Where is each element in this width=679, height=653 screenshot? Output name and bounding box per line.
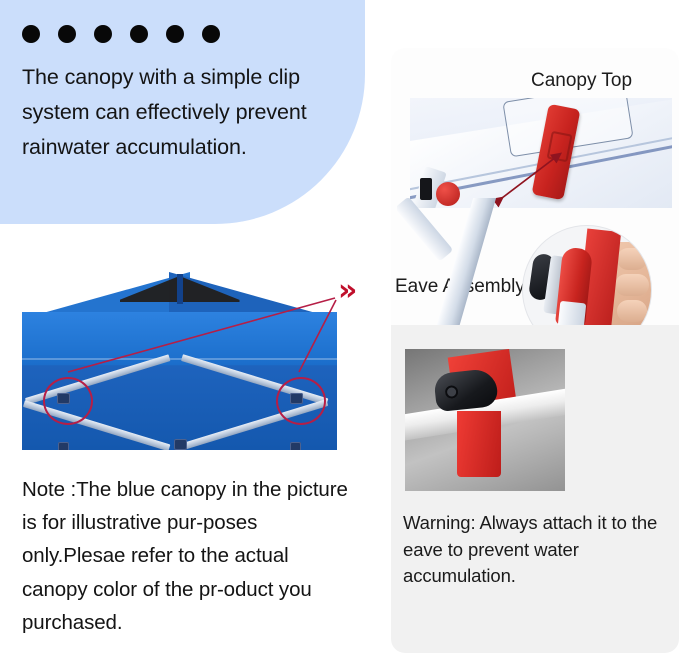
- right-column: Canopy Top: [391, 48, 679, 653]
- warning-text: Warning: Always attach it to the eave to…: [403, 510, 671, 590]
- eave-pole-secondary: [397, 198, 453, 262]
- eave-pole-main: [429, 198, 500, 326]
- bullet-dot-4: [130, 25, 148, 43]
- dots-row: [22, 25, 220, 43]
- bullet-dot-2: [58, 25, 76, 43]
- finger-2: [615, 274, 649, 296]
- infographic-page: The canopy with a simple clip system can…: [0, 0, 679, 653]
- leader-line-left: [68, 298, 335, 372]
- leader-lines: [0, 250, 380, 460]
- leader-line-right: [299, 300, 336, 372]
- finger-1: [617, 248, 647, 270]
- warning-panel: Warning: Always attach it to the eave to…: [391, 325, 679, 653]
- bullet-dot-3: [94, 25, 112, 43]
- bullet-dot-5: [166, 25, 184, 43]
- warning-photo: [405, 349, 565, 491]
- headline-text: The canopy with a simple clip system can…: [22, 60, 352, 165]
- double-arrow-icon: [410, 98, 672, 208]
- red-strap-bottom: [457, 411, 501, 477]
- canopy-top-photo: [410, 98, 672, 208]
- left-column: The canopy with a simple clip system can…: [0, 0, 380, 653]
- finger-3: [617, 300, 647, 322]
- canopy-top-label: Canopy Top: [531, 70, 632, 92]
- note-text: Note :The blue canopy in the picture is …: [22, 473, 352, 639]
- bullet-dot-6: [202, 25, 220, 43]
- bullet-dot-1: [22, 25, 40, 43]
- speech-bubble: The canopy with a simple clip system can…: [0, 0, 365, 224]
- chevron-right-icon: »: [338, 276, 354, 306]
